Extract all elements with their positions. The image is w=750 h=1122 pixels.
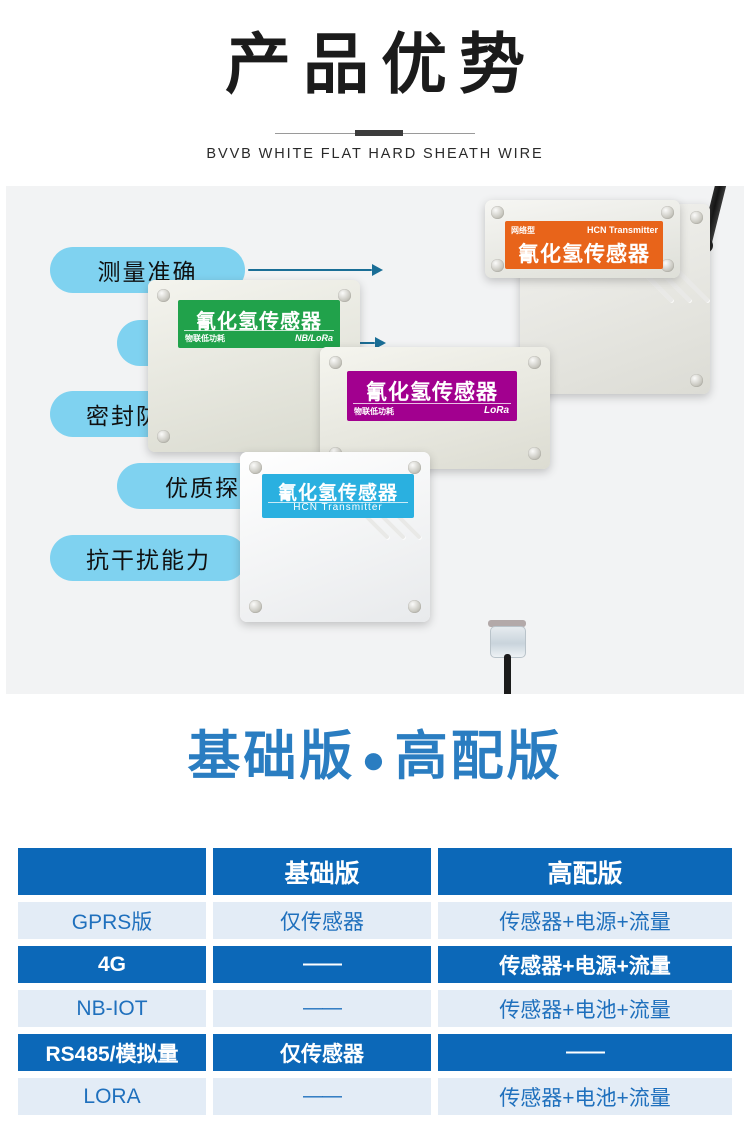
row-basic: 仅传感器 (213, 1034, 431, 1071)
row-basic: —— (213, 946, 431, 983)
row-name: LORA (18, 1078, 206, 1115)
device-green-label: 氰化氢传感器 物联低功耗 NB/LoRa (178, 300, 340, 348)
section-heading-dot: ● (355, 738, 394, 782)
row-premium: 传感器+电源+流量 (438, 946, 732, 983)
row-premium: 传感器+电源+流量 (438, 902, 732, 939)
feature-pill-5[interactable]: 抗干扰能力 (50, 535, 247, 581)
row-basic: —— (213, 990, 431, 1027)
product-photo-section: 测量准确 高密度外壳 密封防水条 优质探头 抗干扰能力 (0, 180, 750, 700)
row-name: NB-IOT (18, 990, 206, 1027)
row-basic: —— (213, 1078, 431, 1115)
device-green-label-right: NB/LoRa (295, 333, 333, 343)
device-purple-label-main: 氰化氢传感器 (347, 376, 517, 406)
device-purple: 氰化氢传感器 物联低功耗 LoRa (320, 347, 550, 469)
row-premium: 传感器+电池+流量 (438, 990, 732, 1027)
row-premium: 传感器+电池+流量 (438, 1078, 732, 1115)
row-name: GPRS版 (18, 902, 206, 939)
section-heading-right: 高配版 (395, 727, 563, 786)
device-orange-label: 网络型 HCN Transmitter 氰化氢传感器 (505, 221, 663, 269)
row-name: 4G (18, 946, 206, 983)
section-heading-left: 基础版 (187, 727, 355, 786)
comparison-table: 基础版 高配版 GPRS版 仅传感器 传感器+电源+流量 4G —— 传感器+电… (18, 848, 732, 1122)
device-cyan-label-right: HCN Transmitter (262, 502, 414, 513)
table-row: NB-IOT —— 传感器+电池+流量 (18, 990, 732, 1027)
table-row: GPRS版 仅传感器 传感器+电源+流量 (18, 902, 732, 939)
device-green-label-left: 物联低功耗 (185, 333, 225, 344)
device-orange-label-main: 氰化氢传感器 (505, 238, 663, 268)
device-purple-label-right: LoRa (484, 405, 509, 416)
product-advantage-page: 产品优势 BVVB WHITE FLAT HARD SHEATH WIRE 测量… (0, 0, 750, 1120)
table-row: 4G —— 传感器+电源+流量 (18, 946, 732, 983)
device-cyan-label: 氰化氢传感器 HCN Transmitter (262, 474, 414, 518)
feature-arrow-1 (248, 264, 383, 276)
row-name: RS485/模拟量 (18, 1034, 206, 1071)
feature-label: 抗干扰能力 (86, 541, 211, 575)
table-header-basic: 基础版 (213, 848, 431, 895)
section-heading: 基础版●高配版 (0, 714, 750, 790)
page-subtitle: BVVB WHITE FLAT HARD SHEATH WIRE (0, 146, 750, 162)
table-row: RS485/模拟量 仅传感器 —— (18, 1034, 732, 1071)
device-orange-label-left: 网络型 (511, 225, 535, 236)
table-row: LORA —— 传感器+电池+流量 (18, 1078, 732, 1115)
device-orange-label-right: HCN Transmitter (587, 225, 658, 235)
title-divider-center (355, 130, 403, 136)
table-header-blank (18, 848, 206, 895)
device-purple-label: 氰化氢传感器 物联低功耗 LoRa (347, 371, 517, 421)
device-purple-label-left: 物联低功耗 (354, 406, 394, 417)
device-cable (504, 654, 511, 700)
device-cyan-label-main: 氰化氢传感器 (262, 478, 414, 505)
page-title: 产品优势 (0, 22, 750, 106)
device-cyan: 氰化氢传感器 HCN Transmitter (240, 452, 430, 622)
table-header-row: 基础版 高配版 (18, 848, 732, 895)
row-basic: 仅传感器 (213, 902, 431, 939)
device-orange: 网络型 HCN Transmitter 氰化氢传感器 (485, 200, 680, 278)
table-header-premium: 高配版 (438, 848, 732, 895)
row-premium: —— (438, 1034, 732, 1071)
page-header: 产品优势 BVVB WHITE FLAT HARD SHEATH WIRE (0, 0, 750, 180)
